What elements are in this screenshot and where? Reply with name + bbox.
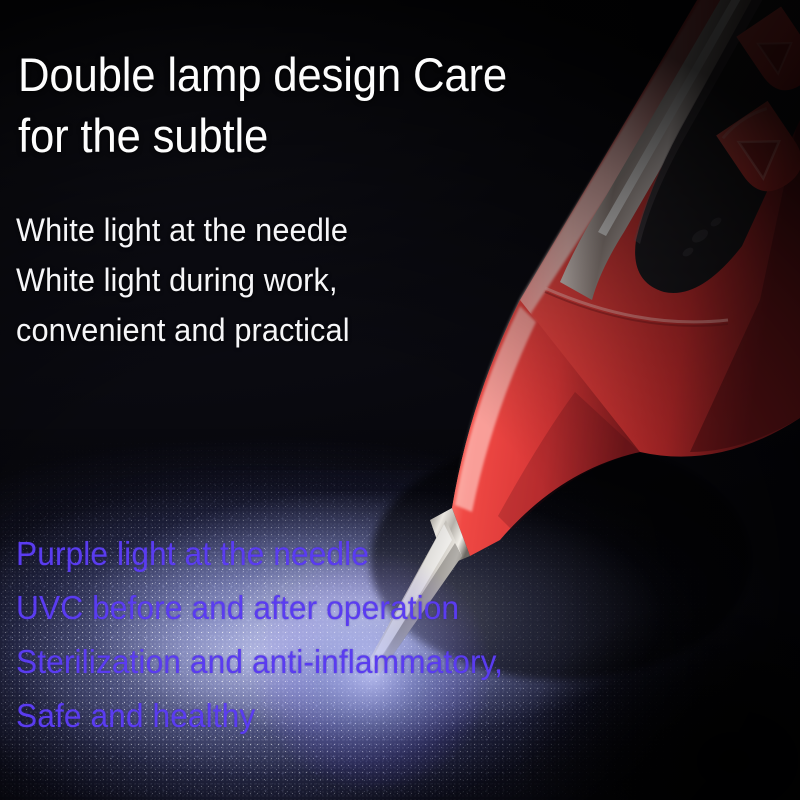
uv-feature-line-2: UVC before and after operation [16, 581, 755, 635]
white-feature-line-2: White light during work, [16, 256, 630, 306]
white-light-feature-list: White light at the needle White light du… [16, 206, 630, 356]
uv-feature-line-1: Purple light at the needle [16, 527, 755, 581]
uv-feature-line-3: Sterilization and anti-inflammatory, [16, 635, 755, 689]
white-feature-line-3: convenient and practical [16, 306, 630, 356]
white-feature-line-1: White light at the needle [16, 206, 630, 256]
banner-canvas: Double lamp design Care for the subtle W… [0, 0, 800, 800]
headline: Double lamp design Care for the subtle [18, 45, 669, 165]
uv-light-feature-list: Purple light at the needle UVC before an… [16, 527, 755, 743]
uv-feature-line-4: Safe and healthy [16, 689, 755, 743]
